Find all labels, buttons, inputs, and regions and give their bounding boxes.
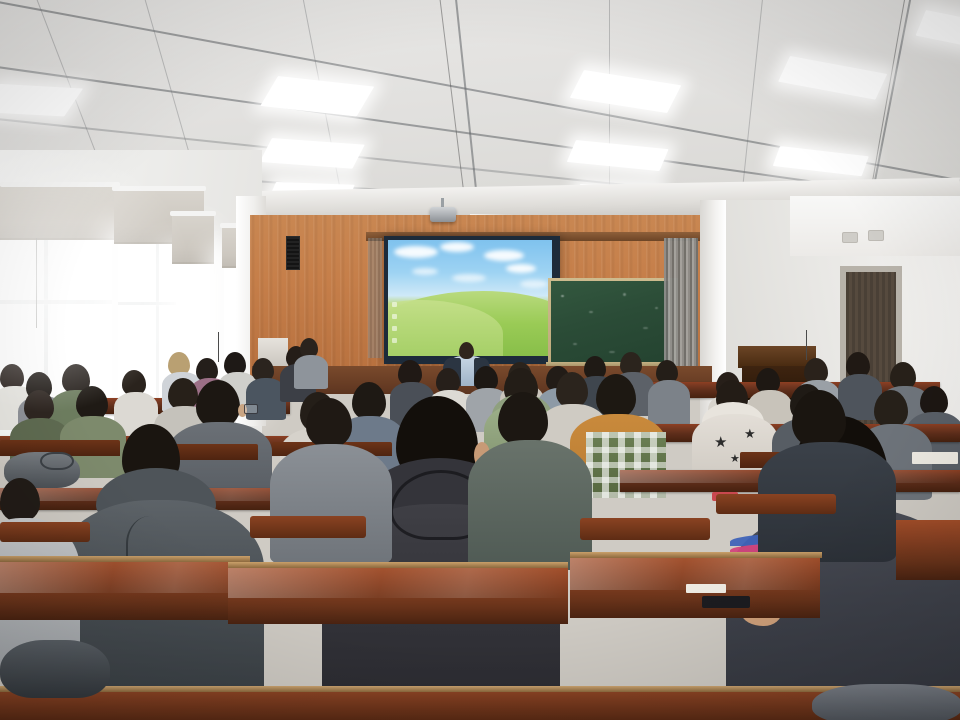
cloud-icon <box>484 250 524 261</box>
microphone-stand <box>806 330 807 360</box>
bench-back-front <box>250 516 366 538</box>
star-graphic: ★ <box>744 428 756 440</box>
desk-front-center <box>228 566 568 624</box>
bench-back-front <box>716 494 836 514</box>
desk-front-left <box>0 560 250 620</box>
blind-rail <box>0 182 120 187</box>
presenter-hair <box>459 342 474 359</box>
ceiling-light-panel <box>567 140 669 171</box>
cloud-icon <box>506 264 536 273</box>
window-mullion <box>0 300 112 304</box>
cloud-icon <box>394 246 438 258</box>
star-graphic: ★ <box>730 454 740 464</box>
desk-edge <box>228 562 568 568</box>
window-blind <box>172 214 214 264</box>
wooden-cabinet <box>738 346 816 368</box>
microphone-stand <box>218 332 219 362</box>
ceiling-light-panel <box>570 70 681 113</box>
cloud-icon <box>452 274 486 282</box>
air-vent-icon <box>842 232 858 243</box>
wall-speaker-icon <box>286 236 300 270</box>
papers <box>686 584 726 593</box>
ceiling-light-panel <box>916 10 960 47</box>
cloud-icon <box>440 242 474 252</box>
projector-icon <box>430 207 456 222</box>
papers <box>912 452 958 464</box>
desktop-icon <box>392 326 397 331</box>
chalkboard <box>551 281 669 363</box>
curtain-left <box>368 238 382 358</box>
ceiling-light-panel <box>778 56 887 100</box>
backpack-foreground <box>0 640 110 698</box>
desktop-icon <box>392 302 397 307</box>
desktop-icon <box>392 314 397 319</box>
side-wall-upper <box>790 196 960 256</box>
window-blind <box>0 186 116 240</box>
ceiling-light-panel <box>0 84 83 116</box>
ceiling-light-panel <box>773 146 869 176</box>
desk-edge <box>0 556 250 562</box>
ceiling-light-panel <box>260 76 374 116</box>
desk-front-farright <box>896 520 960 580</box>
backpack-strap <box>40 452 74 470</box>
bag-foreground-right <box>812 684 960 720</box>
curtain-right <box>664 238 698 370</box>
blind-rail <box>170 211 216 216</box>
smartphone[interactable] <box>702 596 750 608</box>
cloud-icon <box>520 280 548 288</box>
ceiling-light-panel <box>260 138 365 169</box>
projection-screen <box>388 240 552 356</box>
desktop-icon <box>392 338 397 343</box>
bench-back-front <box>0 522 90 542</box>
bench-back-front <box>580 518 710 540</box>
blind-cord <box>36 238 37 328</box>
desk-edge <box>570 552 822 558</box>
blind-rail <box>112 186 206 191</box>
star-graphic: ★ <box>714 436 728 450</box>
air-vent-icon <box>868 230 884 241</box>
cloud-icon <box>412 268 438 275</box>
desk-edge-bottom <box>0 686 960 692</box>
lecture-hall-photo: ★ ★ ★ <box>0 0 960 720</box>
